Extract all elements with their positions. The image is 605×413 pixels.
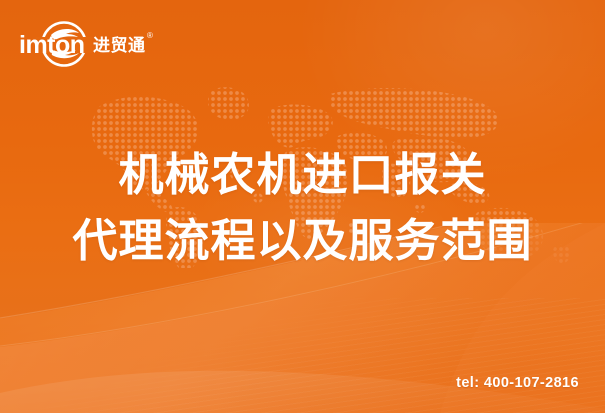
headline-line-1: 机械农机进口报关 [0, 142, 605, 208]
headline-line-2: 代理流程以及服务范围 [0, 208, 605, 274]
headline-block: 机械农机进口报关 代理流程以及服务范围 [0, 142, 605, 274]
logo-latin-text: imton [19, 31, 85, 59]
brand-logo[interactable]: imton 进贸通 ® [18, 18, 168, 72]
contact-telephone[interactable]: tel: 400-107-2816 [456, 375, 579, 391]
registered-trademark-icon: ® [147, 31, 153, 40]
promo-banner: imton 进贸通 ® 机械农机进口报关 代理流程以及服务范围 tel: 400… [0, 0, 605, 413]
logo-chinese-text: 进贸通 [93, 35, 146, 55]
